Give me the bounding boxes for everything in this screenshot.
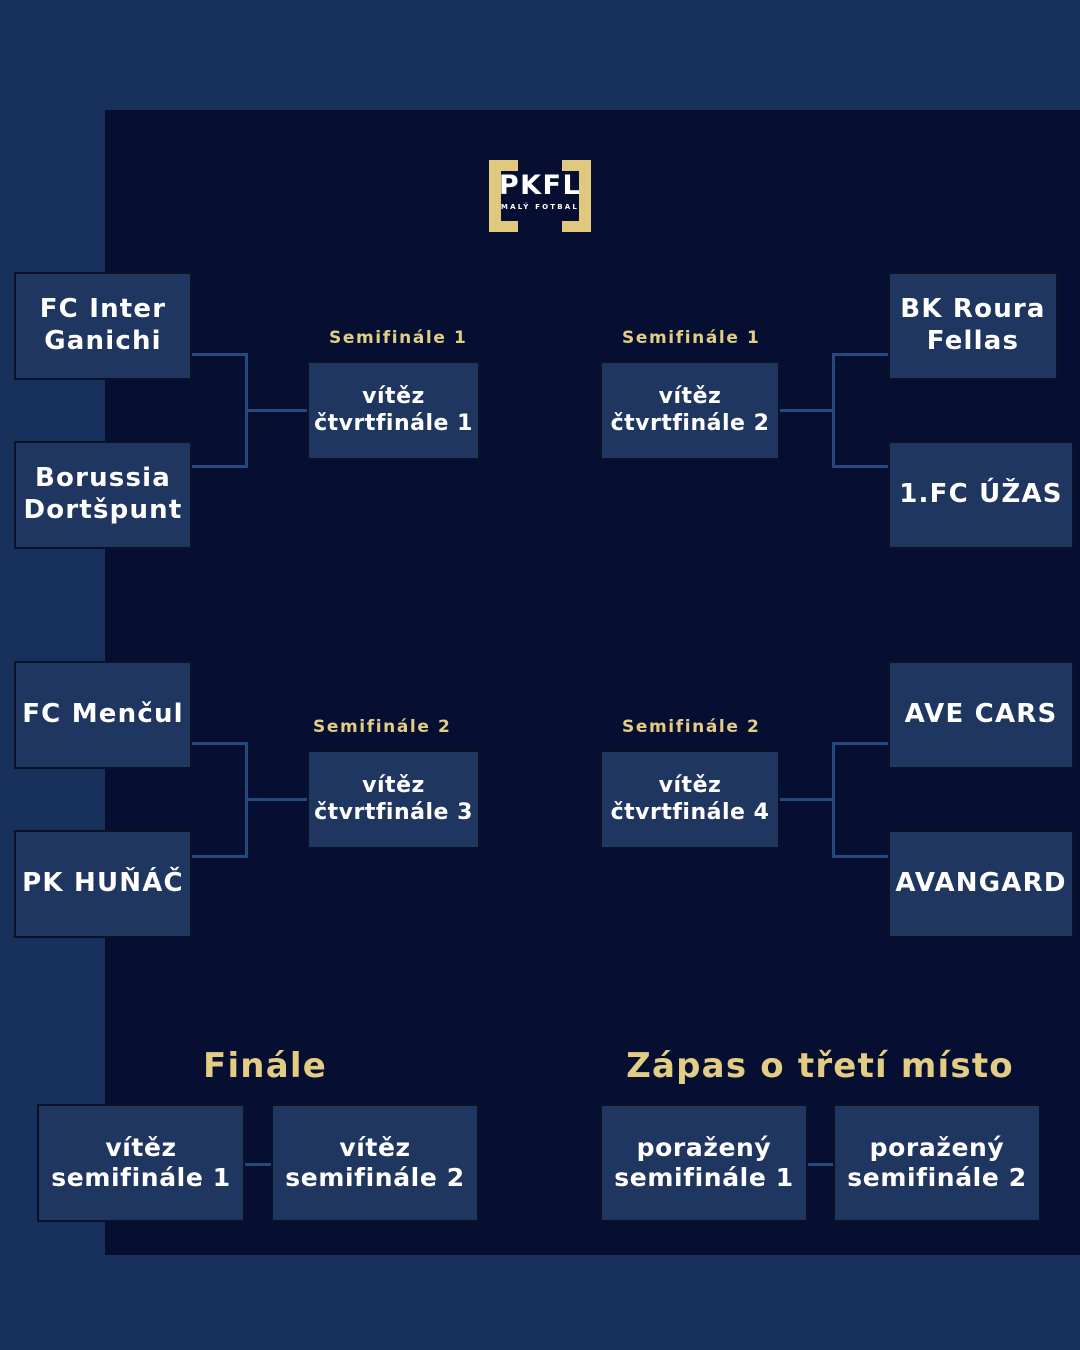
round-label-semifinal-2-left: Semifinále 2 xyxy=(313,717,451,737)
team-box-qf2-top[interactable]: BK Roura Fellas xyxy=(888,272,1058,380)
slot-text: vítěz čtvrtfinále 3 xyxy=(314,773,473,827)
slot-text: vítěz čtvrtfinále 1 xyxy=(314,384,473,438)
slot-text: vítěz semifinále 1 xyxy=(51,1133,230,1194)
team-box-qf3-bottom[interactable]: PK HUŇÁČ xyxy=(14,830,192,938)
connector-qf3-out-h xyxy=(245,798,309,801)
logo-wordmark: PKFL xyxy=(489,172,591,199)
team-name: PK HUŇÁČ xyxy=(22,868,184,900)
slot-box-semifinal-2-left[interactable]: vítěz čtvrtfinále 3 xyxy=(307,750,480,849)
bracket-poster: PKFL MALÝ FOTBAL FC Inter Ganichi Boruss… xyxy=(0,0,1080,1350)
slot-text: vítěz čtvrtfinále 2 xyxy=(611,384,770,438)
slot-box-third-place-2[interactable]: poražený semifinále 2 xyxy=(833,1104,1041,1222)
section-title-third-place: Zápas o třetí místo xyxy=(560,1046,1080,1086)
pkfl-logo: PKFL MALÝ FOTBAL xyxy=(489,160,591,232)
team-name: AVE CARS xyxy=(905,699,1058,731)
logo-tagline: MALÝ FOTBAL xyxy=(489,204,591,211)
team-name: Borussia Dortšpunt xyxy=(23,463,182,526)
team-box-qf1-bottom[interactable]: Borussia Dortšpunt xyxy=(14,441,192,549)
team-box-qf4-bottom[interactable]: AVANGARD xyxy=(888,830,1074,938)
round-label-semifinal-2-right: Semifinále 2 xyxy=(622,717,760,737)
round-label-semifinal-1-left: Semifinále 1 xyxy=(329,328,467,348)
slot-box-final-1[interactable]: vítěz semifinále 1 xyxy=(37,1104,245,1222)
team-box-qf4-top[interactable]: AVE CARS xyxy=(888,661,1074,769)
round-label-semifinal-1-right: Semifinále 1 xyxy=(622,328,760,348)
slot-box-semifinal-1-right[interactable]: vítěz čtvrtfinále 2 xyxy=(600,361,780,460)
slot-text: vítěz semifinále 2 xyxy=(285,1133,464,1194)
team-name: BK Roura Fellas xyxy=(900,294,1045,357)
connector-qf2-top-h xyxy=(832,353,890,356)
connector-qf3-bottom-h xyxy=(190,855,248,858)
team-name: 1.FC ÚŽAS xyxy=(899,479,1062,511)
team-box-qf2-bottom[interactable]: 1.FC ÚŽAS xyxy=(888,441,1074,549)
team-name: AVANGARD xyxy=(895,868,1066,900)
slot-text: poražený semifinále 1 xyxy=(614,1133,793,1194)
slot-text: vítěz čtvrtfinále 4 xyxy=(611,773,770,827)
section-title-finale: Finále xyxy=(0,1046,530,1086)
team-box-qf1-top[interactable]: FC Inter Ganichi xyxy=(14,272,192,380)
slot-text: poražený semifinále 2 xyxy=(847,1133,1026,1194)
connector-qf4-out-h xyxy=(771,798,835,801)
slot-box-third-place-1[interactable]: poražený semifinále 1 xyxy=(600,1104,808,1222)
connector-qf1-out-h xyxy=(245,409,309,412)
connector-qf1-top-h xyxy=(190,353,248,356)
connector-qf4-bottom-h xyxy=(832,855,890,858)
team-name: FC Menčul xyxy=(22,699,184,731)
connector-qf4-top-h xyxy=(832,742,890,745)
slot-box-semifinal-1-left[interactable]: vítěz čtvrtfinále 1 xyxy=(307,361,480,460)
connector-qf3-top-h xyxy=(190,742,248,745)
connector-qf1-bottom-h xyxy=(190,465,248,468)
team-box-qf3-top[interactable]: FC Menčul xyxy=(14,661,192,769)
team-name: FC Inter Ganichi xyxy=(40,294,167,357)
slot-box-semifinal-2-right[interactable]: vítěz čtvrtfinále 4 xyxy=(600,750,780,849)
connector-qf2-out-h xyxy=(771,409,835,412)
connector-qf2-bottom-h xyxy=(832,465,890,468)
slot-box-final-2[interactable]: vítěz semifinále 2 xyxy=(271,1104,479,1222)
